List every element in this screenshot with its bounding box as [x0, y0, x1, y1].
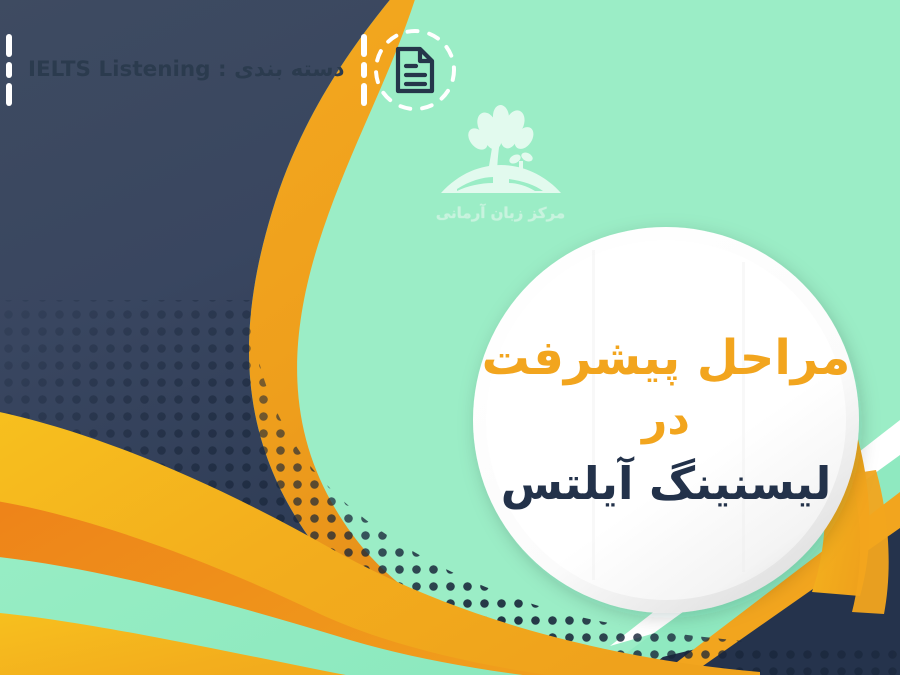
promo-banner: دسته بندی : IELTS Listening — [0, 0, 900, 675]
document-badge — [369, 24, 461, 116]
category-label: دسته بندی : IELTS Listening — [28, 59, 345, 81]
title-block: مراحل پیشرفت در لیسنینگ آیلتس — [486, 240, 846, 600]
title-line-3: لیسنینگ آیلتس — [501, 460, 832, 507]
dashed-bracket-right-icon — [359, 34, 369, 106]
category-text-wrap: دسته بندی : IELTS Listening — [4, 33, 369, 107]
tree-on-hill-logo-icon — [431, 103, 571, 208]
brand-name: مرکز زبان آرمانی — [436, 204, 565, 222]
brand-logo: مرکز زبان آرمانی — [418, 103, 583, 233]
document-icon — [395, 46, 435, 94]
title-line-1: مراحل پیشرفت — [482, 333, 851, 383]
category-header: دسته بندی : IELTS Listening — [0, 22, 900, 118]
dashed-bracket-left-icon — [4, 34, 14, 106]
title-line-2: در — [642, 397, 690, 443]
